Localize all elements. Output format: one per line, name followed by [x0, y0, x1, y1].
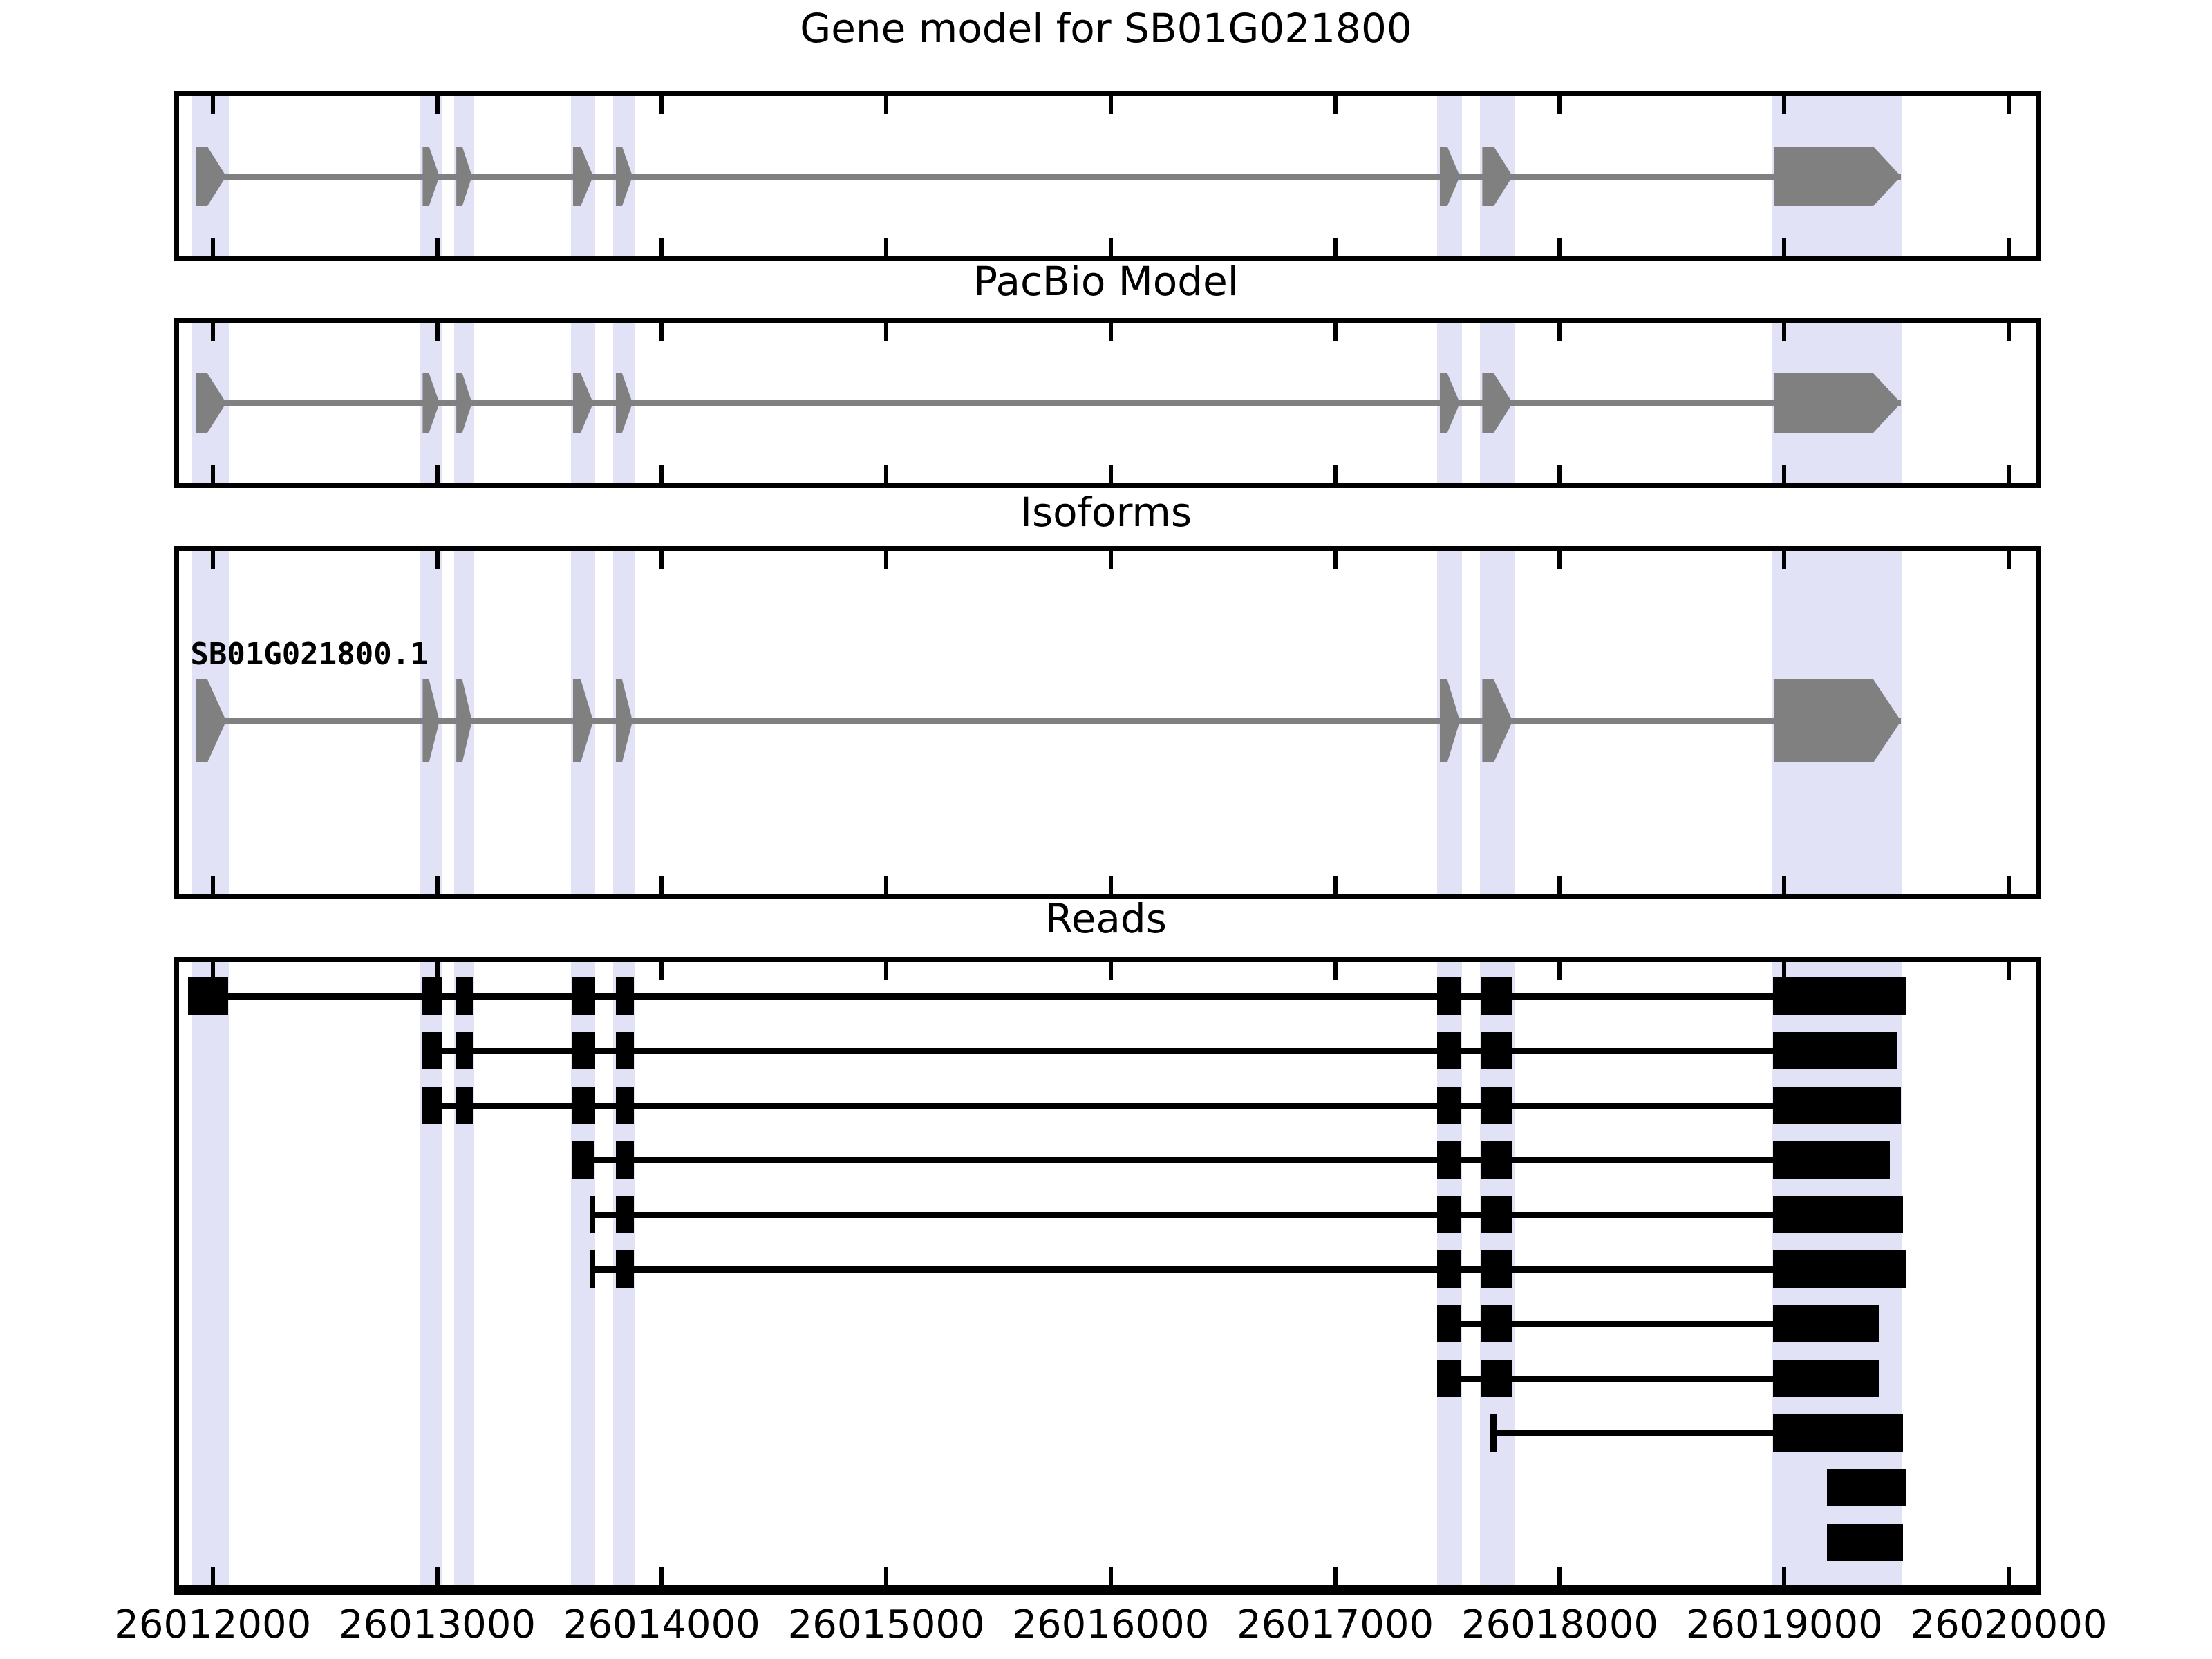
- pacbio-model-feature-exon-5: [616, 373, 632, 433]
- read-7-block-1: [1437, 1305, 1461, 1342]
- read-3-block-4: [616, 1087, 634, 1124]
- read-1-block-2: [422, 977, 442, 1015]
- gene-model-feature-exon-shape-4: [573, 147, 593, 206]
- tick-bottom-0: [211, 876, 215, 894]
- tick-top-8: [2007, 323, 2011, 341]
- read-2-block-3: [572, 1032, 595, 1069]
- pacbio-model-feature-exon-4: [573, 373, 593, 433]
- read-8-block-3: [1773, 1360, 1879, 1397]
- read-5-line: [590, 1212, 1903, 1218]
- gene-model-feature-exon-shape-6: [1440, 147, 1460, 206]
- tick-bottom-0: [211, 465, 215, 483]
- tick-bottom-8: [2007, 1567, 2011, 1585]
- read-4-line: [572, 1157, 1890, 1163]
- tick-bottom-7: [1782, 238, 1786, 256]
- tick-top-7: [1782, 323, 1786, 341]
- isoform-feature-exon-shape-2: [422, 679, 439, 762]
- x-axis: 2601200026013000260140002601500026016000…: [174, 1590, 2041, 1659]
- tick-bottom-1: [435, 238, 440, 256]
- isoform-feature-exon-shape-3: [456, 679, 472, 762]
- isoform-feature-exon-shape-7: [1482, 679, 1512, 762]
- pacbio-model-feature-exon-8: [1774, 373, 1902, 433]
- pacbio-model-feature-exon-shape-5: [616, 373, 632, 433]
- tick-top-0: [211, 96, 215, 114]
- tick-top-3: [884, 323, 888, 341]
- gene-model-feature-exon-shape-5: [616, 147, 632, 206]
- tick-bottom-4: [1109, 465, 1113, 483]
- tick-bottom-6: [1557, 1567, 1562, 1585]
- tick-top-4: [1109, 962, 1113, 980]
- tick-top-2: [659, 962, 664, 980]
- figure-canvas: Gene model for SB01G021800 PacBio Model …: [0, 0, 2212, 1659]
- tick-top-8: [2007, 551, 2011, 569]
- x-tick-label-0: 26012000: [114, 1602, 311, 1647]
- read-5-block-3: [1437, 1196, 1461, 1233]
- x-tick-label-1: 26013000: [339, 1602, 536, 1647]
- read-8-block-1: [1437, 1360, 1461, 1397]
- read-1-block-4: [572, 977, 595, 1015]
- tick-top-7: [1782, 551, 1786, 569]
- tick-top-8: [2007, 96, 2011, 114]
- gene-model-feature-exon-8: [1774, 147, 1902, 206]
- pacbio-model-feature-exon-7: [1482, 373, 1512, 433]
- panel-gene-model: [174, 91, 2041, 261]
- tick-bottom-7: [1782, 1567, 1786, 1585]
- gene-model-feature-exon-4: [573, 147, 593, 206]
- x-tick-label-3: 26015000: [788, 1602, 985, 1647]
- pacbio-model-feature-exon-shape-6: [1440, 373, 1460, 433]
- tick-top-7: [1782, 96, 1786, 114]
- tick-bottom-8: [2007, 238, 2011, 256]
- tick-top-5: [1333, 96, 1338, 114]
- tick-bottom-5: [1333, 465, 1338, 483]
- tick-top-0: [211, 323, 215, 341]
- tick-bottom-2: [659, 465, 664, 483]
- read-4-block-4: [1481, 1141, 1512, 1179]
- x-tick-label-2: 26014000: [563, 1602, 760, 1647]
- read-3-block-6: [1481, 1087, 1512, 1124]
- tick-top-4: [1109, 551, 1113, 569]
- pacbio-model-feature-exon-shape-8: [1774, 373, 1902, 433]
- read-2-block-1: [422, 1032, 442, 1069]
- tick-bottom-2: [659, 238, 664, 256]
- gene-model-feature-exon-6: [1440, 147, 1460, 206]
- gene-model-feature-exon-2: [422, 147, 439, 206]
- pacbio-model-feature-exon-shape-7: [1482, 373, 1512, 433]
- tick-top-0: [211, 551, 215, 569]
- tick-top-2: [659, 551, 664, 569]
- pacbio-model-feature-exon-2: [422, 373, 439, 433]
- read-4-block-3: [1437, 1141, 1461, 1179]
- tick-top-4: [1109, 96, 1113, 114]
- read-2-block-7: [1773, 1032, 1897, 1069]
- panel-title-isoforms: Isoforms: [0, 492, 2212, 532]
- read-1-line: [188, 993, 1906, 1000]
- gene-model-feature-exon-1: [196, 147, 226, 206]
- tick-bottom-1: [435, 465, 440, 483]
- read-5-block-2: [616, 1196, 634, 1233]
- x-tick-label-4: 26016000: [1012, 1602, 1209, 1647]
- isoform-feature-exon-3: [456, 679, 472, 762]
- read-3-line: [422, 1103, 1901, 1109]
- x-tick-label-6: 26018000: [1461, 1602, 1658, 1647]
- tick-bottom-5: [1333, 876, 1338, 894]
- pacbio-model-feature-exon-shape-4: [573, 373, 593, 433]
- tick-bottom-3: [884, 238, 888, 256]
- tick-top-5: [1333, 962, 1338, 980]
- isoform-label: SB01G021800.1: [190, 637, 428, 672]
- read-1-block-3: [456, 977, 473, 1015]
- read-11-block-1: [1827, 1524, 1903, 1561]
- read-3-block-1: [422, 1087, 442, 1124]
- read-3-block-2: [456, 1087, 473, 1124]
- read-1-block-5: [616, 977, 634, 1015]
- tick-bottom-2: [659, 1567, 664, 1585]
- read-2-block-5: [1437, 1032, 1461, 1069]
- isoform-feature-exon-shape-1: [196, 679, 226, 762]
- tick-top-6: [1557, 96, 1562, 114]
- read-1-block-8: [1773, 977, 1906, 1015]
- tick-bottom-8: [2007, 465, 2011, 483]
- tick-bottom-0: [211, 238, 215, 256]
- gene-model-feature-exon-shape-8: [1774, 147, 1902, 206]
- read-2-block-4: [616, 1032, 634, 1069]
- isoform-feature-exon-shape-5: [616, 679, 632, 762]
- plot-area-isoforms: SB01G021800.1: [179, 551, 2036, 894]
- isoform-feature-exon-shape-6: [1440, 679, 1460, 762]
- read-4-block-5: [1773, 1141, 1890, 1179]
- read-5-block-5: [1773, 1196, 1903, 1233]
- isoform-feature-exon-1: [196, 679, 226, 762]
- tick-bottom-6: [1557, 238, 1562, 256]
- tick-bottom-3: [884, 876, 888, 894]
- tick-bottom-1: [435, 876, 440, 894]
- tick-top-1: [435, 323, 440, 341]
- isoform-feature-exon-shape-4: [573, 679, 593, 762]
- read-6-block-1: [590, 1250, 595, 1288]
- tick-bottom-4: [1109, 1567, 1113, 1585]
- tick-top-3: [884, 96, 888, 114]
- pacbio-model-feature-exon-3: [456, 373, 472, 433]
- x-tick-label-8: 26020000: [1911, 1602, 2108, 1647]
- tick-bottom-6: [1557, 465, 1562, 483]
- pacbio-model-feature-exon-shape-2: [422, 373, 439, 433]
- tick-bottom-5: [1333, 238, 1338, 256]
- read-1-block-7: [1481, 977, 1512, 1015]
- tick-top-6: [1557, 323, 1562, 341]
- read-1-block-1: [188, 977, 228, 1015]
- read-6-block-4: [1481, 1250, 1512, 1288]
- read-5-block-1: [590, 1196, 595, 1233]
- read-3-block-7: [1773, 1087, 1901, 1124]
- gene-model-feature-exon-5: [616, 147, 632, 206]
- tick-top-2: [659, 96, 664, 114]
- tick-top-5: [1333, 323, 1338, 341]
- gene-model-feature-exon-shape-1: [196, 147, 226, 206]
- tick-top-4: [1109, 323, 1113, 341]
- read-9-block-1: [1490, 1414, 1497, 1452]
- gene-model-feature-exon-shape-7: [1482, 147, 1512, 206]
- read-3-block-3: [572, 1087, 595, 1124]
- read-6-block-5: [1773, 1250, 1906, 1288]
- gene-model-feature-exon-3: [456, 147, 472, 206]
- tick-bottom-6: [1557, 876, 1562, 894]
- tick-top-3: [884, 962, 888, 980]
- read-10-block-1: [1827, 1469, 1906, 1506]
- x-tick-label-5: 26017000: [1237, 1602, 1434, 1647]
- isoform-feature-intron-line: [196, 718, 1901, 724]
- isoform-feature-exon-6: [1440, 679, 1460, 762]
- tick-top-8: [2007, 962, 2011, 980]
- read-9-block-2: [1773, 1414, 1903, 1452]
- plot-area-gene-model: [179, 96, 2036, 256]
- panel-isoforms: SB01G021800.1: [174, 546, 2041, 899]
- tick-bottom-2: [659, 876, 664, 894]
- tick-top-3: [884, 551, 888, 569]
- pacbio-model-feature-exon-6: [1440, 373, 1460, 433]
- panel-pacbio-model: [174, 318, 2041, 488]
- tick-top-6: [1557, 962, 1562, 980]
- tick-bottom-0: [211, 1567, 215, 1585]
- tick-bottom-4: [1109, 238, 1113, 256]
- isoform-feature-exon-8: [1774, 679, 1902, 762]
- tick-bottom-7: [1782, 465, 1786, 483]
- gene-model-feature-intron-line: [196, 174, 1901, 180]
- read-6-line: [590, 1266, 1905, 1273]
- x-axis-spine: [174, 1590, 2041, 1595]
- read-7-block-2: [1481, 1305, 1512, 1342]
- panel-title-reads: Reads: [0, 899, 2212, 939]
- tick-bottom-1: [435, 1567, 440, 1585]
- tick-bottom-4: [1109, 876, 1113, 894]
- highlight-band-1: [192, 962, 229, 1585]
- tick-top-1: [435, 96, 440, 114]
- tick-top-1: [435, 551, 440, 569]
- tick-bottom-7: [1782, 876, 1786, 894]
- read-3-block-5: [1437, 1087, 1461, 1124]
- tick-top-5: [1333, 551, 1338, 569]
- pacbio-model-feature-intron-line: [196, 400, 1901, 406]
- tick-bottom-3: [884, 465, 888, 483]
- x-tick-label-7: 26019000: [1686, 1602, 1883, 1647]
- gene-model-feature-exon-shape-3: [456, 147, 472, 206]
- isoform-feature-exon-5: [616, 679, 632, 762]
- read-6-block-3: [1437, 1250, 1461, 1288]
- gene-model-feature-exon-shape-2: [422, 147, 439, 206]
- panel-title-gene-model: Gene model for SB01G021800: [0, 8, 2212, 48]
- tick-bottom-5: [1333, 1567, 1338, 1585]
- read-2-block-2: [456, 1032, 473, 1069]
- isoform-feature-exon-shape-8: [1774, 679, 1902, 762]
- isoform-feature-exon-2: [422, 679, 439, 762]
- pacbio-model-feature-exon-1: [196, 373, 226, 433]
- read-8-block-2: [1481, 1360, 1512, 1397]
- tick-bottom-8: [2007, 876, 2011, 894]
- gene-model-feature-exon-7: [1482, 147, 1512, 206]
- tick-bottom-3: [884, 1567, 888, 1585]
- read-2-line: [422, 1048, 1897, 1054]
- read-1-block-6: [1437, 977, 1461, 1015]
- plot-area-reads: [179, 962, 2036, 1585]
- isoform-feature-exon-7: [1482, 679, 1512, 762]
- panel-title-pacbio-model: PacBio Model: [0, 261, 2212, 301]
- read-2-block-6: [1481, 1032, 1512, 1069]
- tick-top-2: [659, 323, 664, 341]
- read-4-block-1: [572, 1141, 594, 1179]
- isoform-feature-exon-4: [573, 679, 593, 762]
- pacbio-model-feature-exon-shape-3: [456, 373, 472, 433]
- plot-area-pacbio-model: [179, 323, 2036, 483]
- read-4-block-2: [616, 1141, 634, 1179]
- read-7-block-3: [1773, 1305, 1879, 1342]
- tick-top-6: [1557, 551, 1562, 569]
- read-5-block-4: [1481, 1196, 1512, 1233]
- panel-reads: [174, 957, 2041, 1590]
- pacbio-model-feature-exon-shape-1: [196, 373, 226, 433]
- read-6-block-2: [616, 1250, 634, 1288]
